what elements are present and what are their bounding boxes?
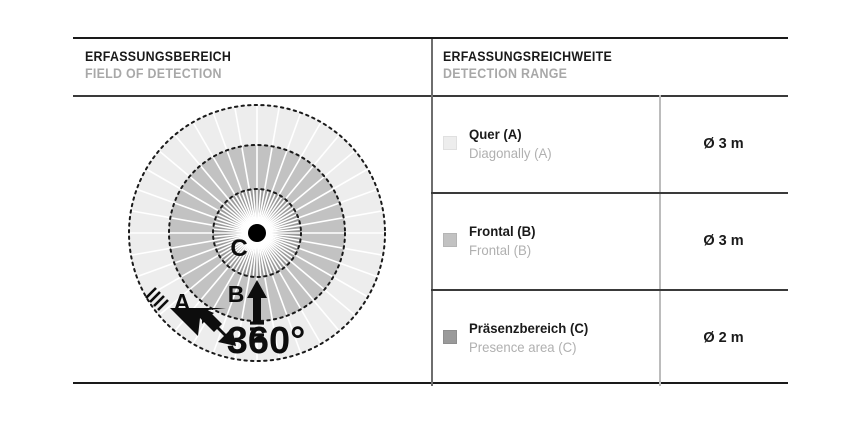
zone-label-a: A [174, 289, 191, 315]
row-label-en: Diagonally (A) [469, 144, 552, 163]
header-en-label: FIELD OF DETECTION [85, 65, 231, 82]
row-label-en: Frontal (B) [469, 241, 536, 260]
zone-color-swatch [443, 330, 457, 344]
row-label: Frontal (B) Frontal (B) [469, 222, 540, 260]
header-field-of-detection: ERFASSUNGSBEREICH FIELD OF DETECTION [85, 49, 244, 82]
zone-label-b: B [228, 281, 245, 307]
detection-field-diagram: C B A 360° [110, 90, 405, 385]
row-range-value: Ø 3 m [659, 95, 788, 192]
angle-label-360: 360° [227, 320, 306, 362]
zone-label-c: C [230, 235, 247, 262]
table-row: Präsenzbereich (C) Presence area (C) Ø 2… [431, 289, 788, 386]
header-detection-range: ERFASSUNGSREICHWEITE DETECTION RANGE [443, 49, 627, 82]
row-label-de: Quer (A) [469, 125, 552, 144]
row-range-value: Ø 3 m [659, 192, 788, 289]
header-en-label: DETECTION RANGE [443, 65, 612, 82]
radial-zones-svg: C B A 360° [110, 90, 405, 385]
sensor-center-dot [248, 224, 266, 242]
row-label-de: Präsenzbereich (C) [469, 319, 588, 338]
row-label-de: Frontal (B) [469, 222, 536, 241]
detection-diagram-page: ERFASSUNGSBEREICH FIELD OF DETECTION ERF… [0, 0, 861, 421]
header-de-label: ERFASSUNGSBEREICH [85, 49, 231, 65]
table-row: Quer (A) Diagonally (A) Ø 3 m [431, 95, 788, 192]
zone-color-swatch [443, 136, 457, 150]
row-range-value: Ø 2 m [659, 289, 788, 386]
row-label: Präsenzbereich (C) Presence area (C) [469, 319, 596, 357]
header-de-label: ERFASSUNGSREICHWEITE [443, 49, 612, 65]
table-row: Frontal (B) Frontal (B) Ø 3 m [431, 192, 788, 289]
row-label: Quer (A) Diagonally (A) [469, 125, 557, 163]
row-label-en: Presence area (C) [469, 338, 588, 357]
zone-color-swatch [443, 233, 457, 247]
